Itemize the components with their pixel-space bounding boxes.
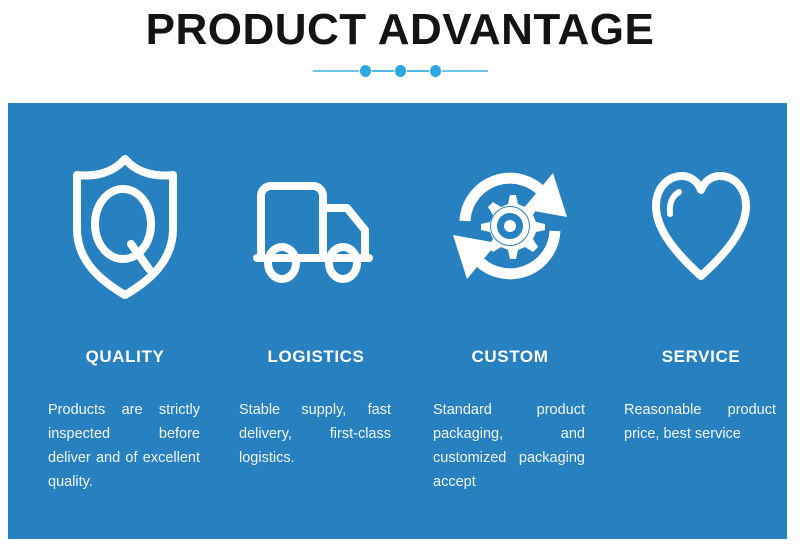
advantage-column-logistics: LOGISTICS Stable supply, fast delivery, … [221, 103, 411, 539]
advantage-body-logistics: Stable supply, fast delivery, first-clas… [239, 398, 391, 470]
advantage-body-service: Reasonable product price, best service [624, 398, 776, 446]
gear-refresh-icon [415, 148, 605, 303]
product-advantage-banner: PRODUCT ADVANTAGE QUALI [0, 0, 800, 550]
divider-line-left [313, 70, 359, 72]
divider-dot-1 [360, 65, 371, 77]
divider-line-mid-2 [407, 70, 429, 72]
page-title: PRODUCT ADVANTAGE [0, 6, 800, 54]
advantage-column-custom: CUSTOM Standard product packaging, and c… [415, 103, 605, 539]
heart-service-icon [606, 148, 796, 303]
advantage-body-quality: Products are strictly inspected before d… [48, 398, 200, 494]
dot-divider-icon [0, 62, 800, 80]
advantage-body-custom: Standard product packaging, and customiz… [433, 398, 585, 494]
advantage-columns: QUALITY Products are strictly inspected … [8, 103, 787, 539]
divider-line-right [442, 70, 488, 72]
advantage-column-service: SERVICE Reasonable product price, best s… [606, 103, 796, 539]
advantage-panel: QUALITY Products are strictly inspected … [8, 103, 787, 539]
divider-dot-3 [430, 65, 441, 77]
advantage-heading-quality: QUALITY [30, 347, 220, 367]
advantage-heading-service: SERVICE [606, 347, 796, 367]
delivery-truck-icon [221, 148, 411, 303]
divider-line-mid-1 [372, 70, 394, 72]
advantage-heading-custom: CUSTOM [415, 347, 605, 367]
advantage-heading-logistics: LOGISTICS [221, 347, 411, 367]
header: PRODUCT ADVANTAGE [0, 0, 800, 100]
shield-quality-icon [30, 148, 220, 303]
advantage-column-quality: QUALITY Products are strictly inspected … [30, 103, 220, 539]
divider-dot-2 [395, 65, 406, 77]
